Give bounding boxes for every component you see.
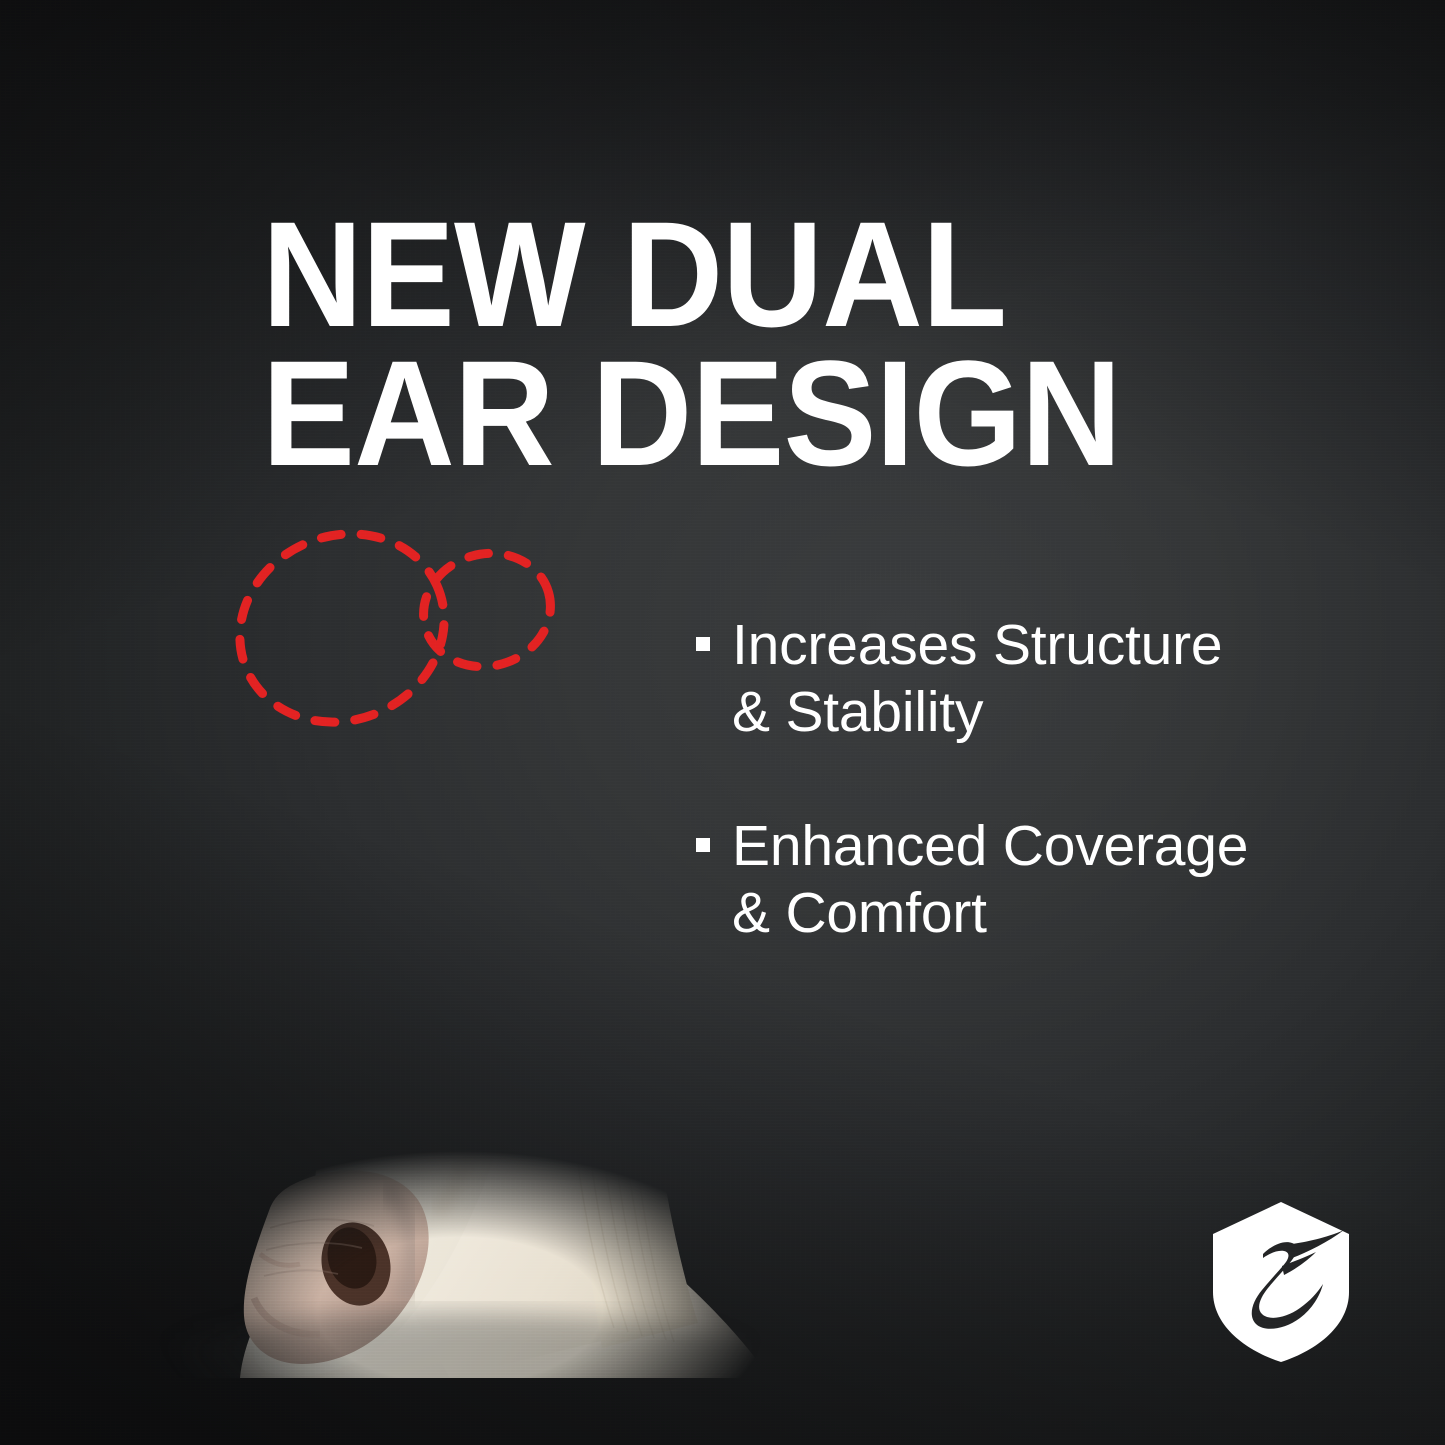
headline: NEW DUAL EAR DESIGN bbox=[262, 205, 1155, 484]
poster-canvas: NEW DUAL EAR DESIGN Increases Structure … bbox=[0, 0, 1445, 1445]
square-bullet-icon bbox=[696, 838, 710, 852]
list-item: Enhanced Coverage & Comfort bbox=[696, 813, 1356, 948]
feature-list: Increases Structure & Stability Enhanced… bbox=[696, 612, 1356, 947]
feature-text: Enhanced Coverage & Comfort bbox=[732, 813, 1248, 948]
square-bullet-icon bbox=[696, 637, 710, 651]
brand-logo bbox=[1208, 1200, 1354, 1364]
shield-k-logo-icon bbox=[1208, 1200, 1354, 1364]
headline-line-2: EAR DESIGN bbox=[262, 344, 1155, 484]
list-item: Increases Structure & Stability bbox=[696, 612, 1356, 747]
headline-line-1: NEW DUAL bbox=[262, 205, 1155, 345]
feature-text: Increases Structure & Stability bbox=[732, 612, 1222, 747]
